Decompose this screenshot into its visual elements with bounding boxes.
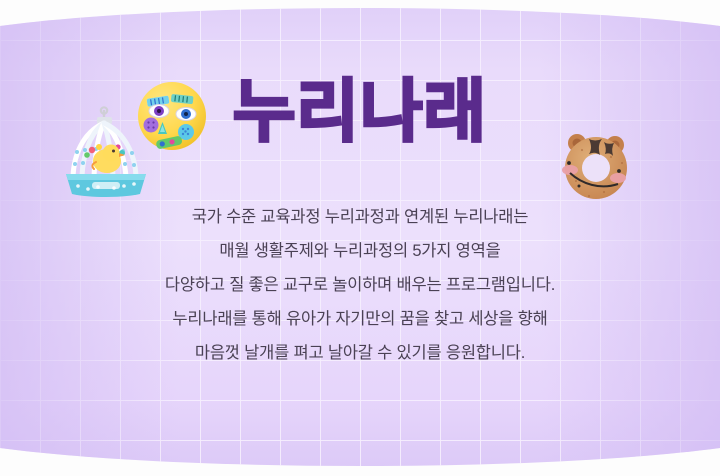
description-line: 다양하고 질 좋은 교구로 놀이하며 배우는 프로그램입니다.: [40, 268, 680, 302]
tiger-ring-toy-icon: [556, 126, 636, 204]
hero-description: 국가 수준 교육과정 누리과정과 연계된 누리나래는 매월 생활주제와 누리과정…: [40, 200, 680, 370]
description-line: 마음껏 날개를 펴고 날아갈 수 있기를 응원합니다.: [40, 336, 680, 370]
yellow-ball-face-toy-icon: [134, 78, 210, 154]
hero-banner: 누리나래 국가 수준 교육과정 누리과정과 연계된 누리나래는 매월 생활주제와…: [0, 0, 720, 476]
description-line: 국가 수준 교육과정 누리과정과 연계된 누리나래는: [40, 200, 680, 234]
description-line: 누리나래를 통해 유아가 자기만의 꿈을 찾고 세상을 향해: [40, 302, 680, 336]
description-line: 매월 생활주제와 누리과정의 5가지 영역을: [40, 234, 680, 268]
